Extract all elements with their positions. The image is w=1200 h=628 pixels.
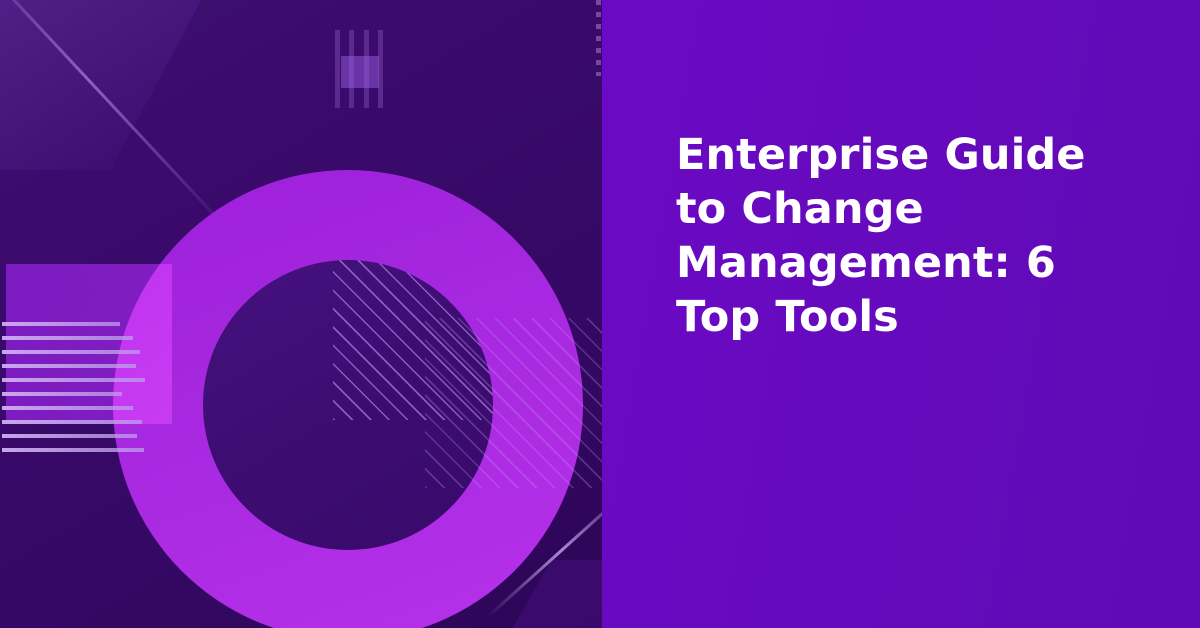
title-panel: Enterprise Guide to Change Management: 6… bbox=[602, 0, 1200, 628]
stack-line bbox=[2, 406, 133, 410]
stack-line bbox=[2, 420, 142, 424]
stack-line bbox=[2, 322, 120, 326]
stack-line bbox=[2, 336, 133, 340]
decorative-graphic-panel bbox=[0, 0, 602, 628]
stack-line bbox=[2, 434, 137, 438]
stack-line bbox=[2, 392, 122, 396]
banner-card: Enterprise Guide to Change Management: 6… bbox=[0, 0, 1200, 628]
diagonal-hatch-pattern bbox=[333, 260, 493, 420]
donut-ring-hole bbox=[203, 260, 493, 550]
line-stack bbox=[2, 322, 132, 452]
stack-line bbox=[2, 448, 144, 452]
page-title: Enterprise Guide to Change Management: 6… bbox=[676, 128, 1116, 344]
stack-line bbox=[2, 350, 140, 354]
chip-icon bbox=[333, 30, 387, 108]
dashed-tick-line bbox=[596, 0, 601, 76]
stack-line bbox=[2, 378, 145, 382]
stack-line bbox=[2, 364, 136, 368]
chip-pin-1 bbox=[335, 30, 340, 108]
chip-core bbox=[341, 56, 379, 88]
